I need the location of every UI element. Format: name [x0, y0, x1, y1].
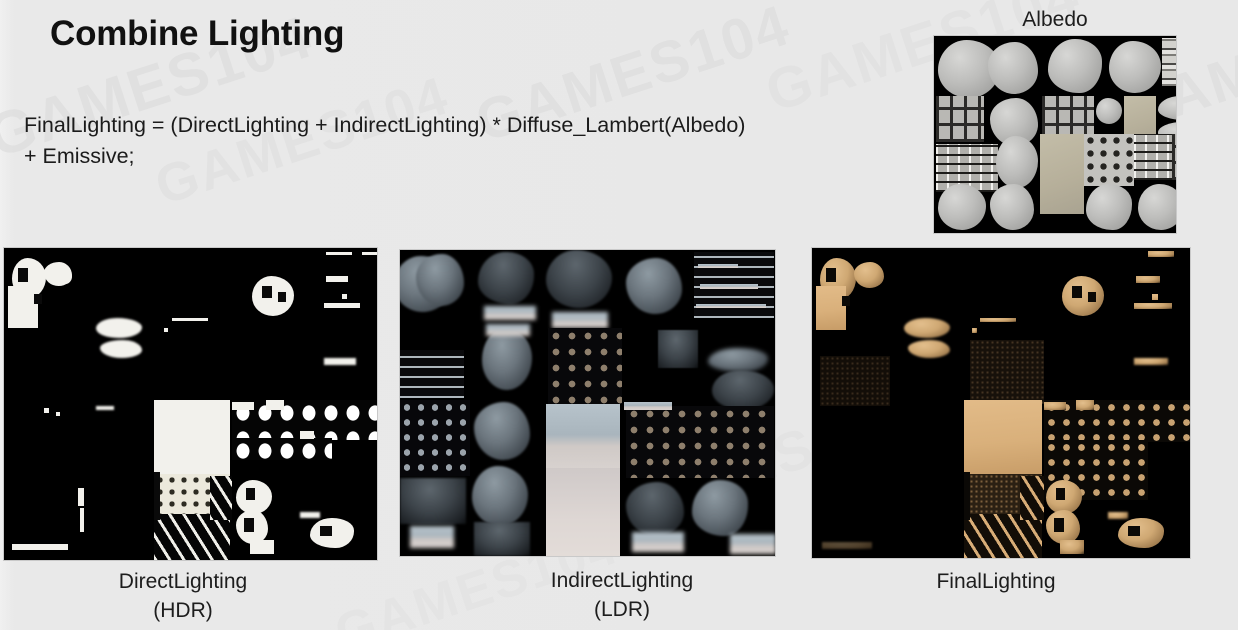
- caption-indirectlighting: IndirectLighting (LDR): [522, 566, 722, 624]
- panel-image-directlighting: [4, 248, 377, 560]
- lighting-formula: FinalLighting = (DirectLighting + Indire…: [24, 110, 745, 172]
- slide-canvas: GAMES104 GAMES104 GAMES104 GAMES104 GAME…: [0, 0, 1238, 630]
- albedo-label: Albedo: [955, 8, 1155, 32]
- caption-finallighting: FinalLighting: [896, 567, 1096, 596]
- panel-image-indirectlighting: [400, 250, 775, 556]
- albedo-texture-atlas: [934, 36, 1176, 233]
- slide-title: Combine Lighting: [50, 14, 344, 54]
- caption-directlighting: DirectLighting (HDR): [83, 567, 283, 625]
- panel-image-finallighting: [812, 248, 1190, 558]
